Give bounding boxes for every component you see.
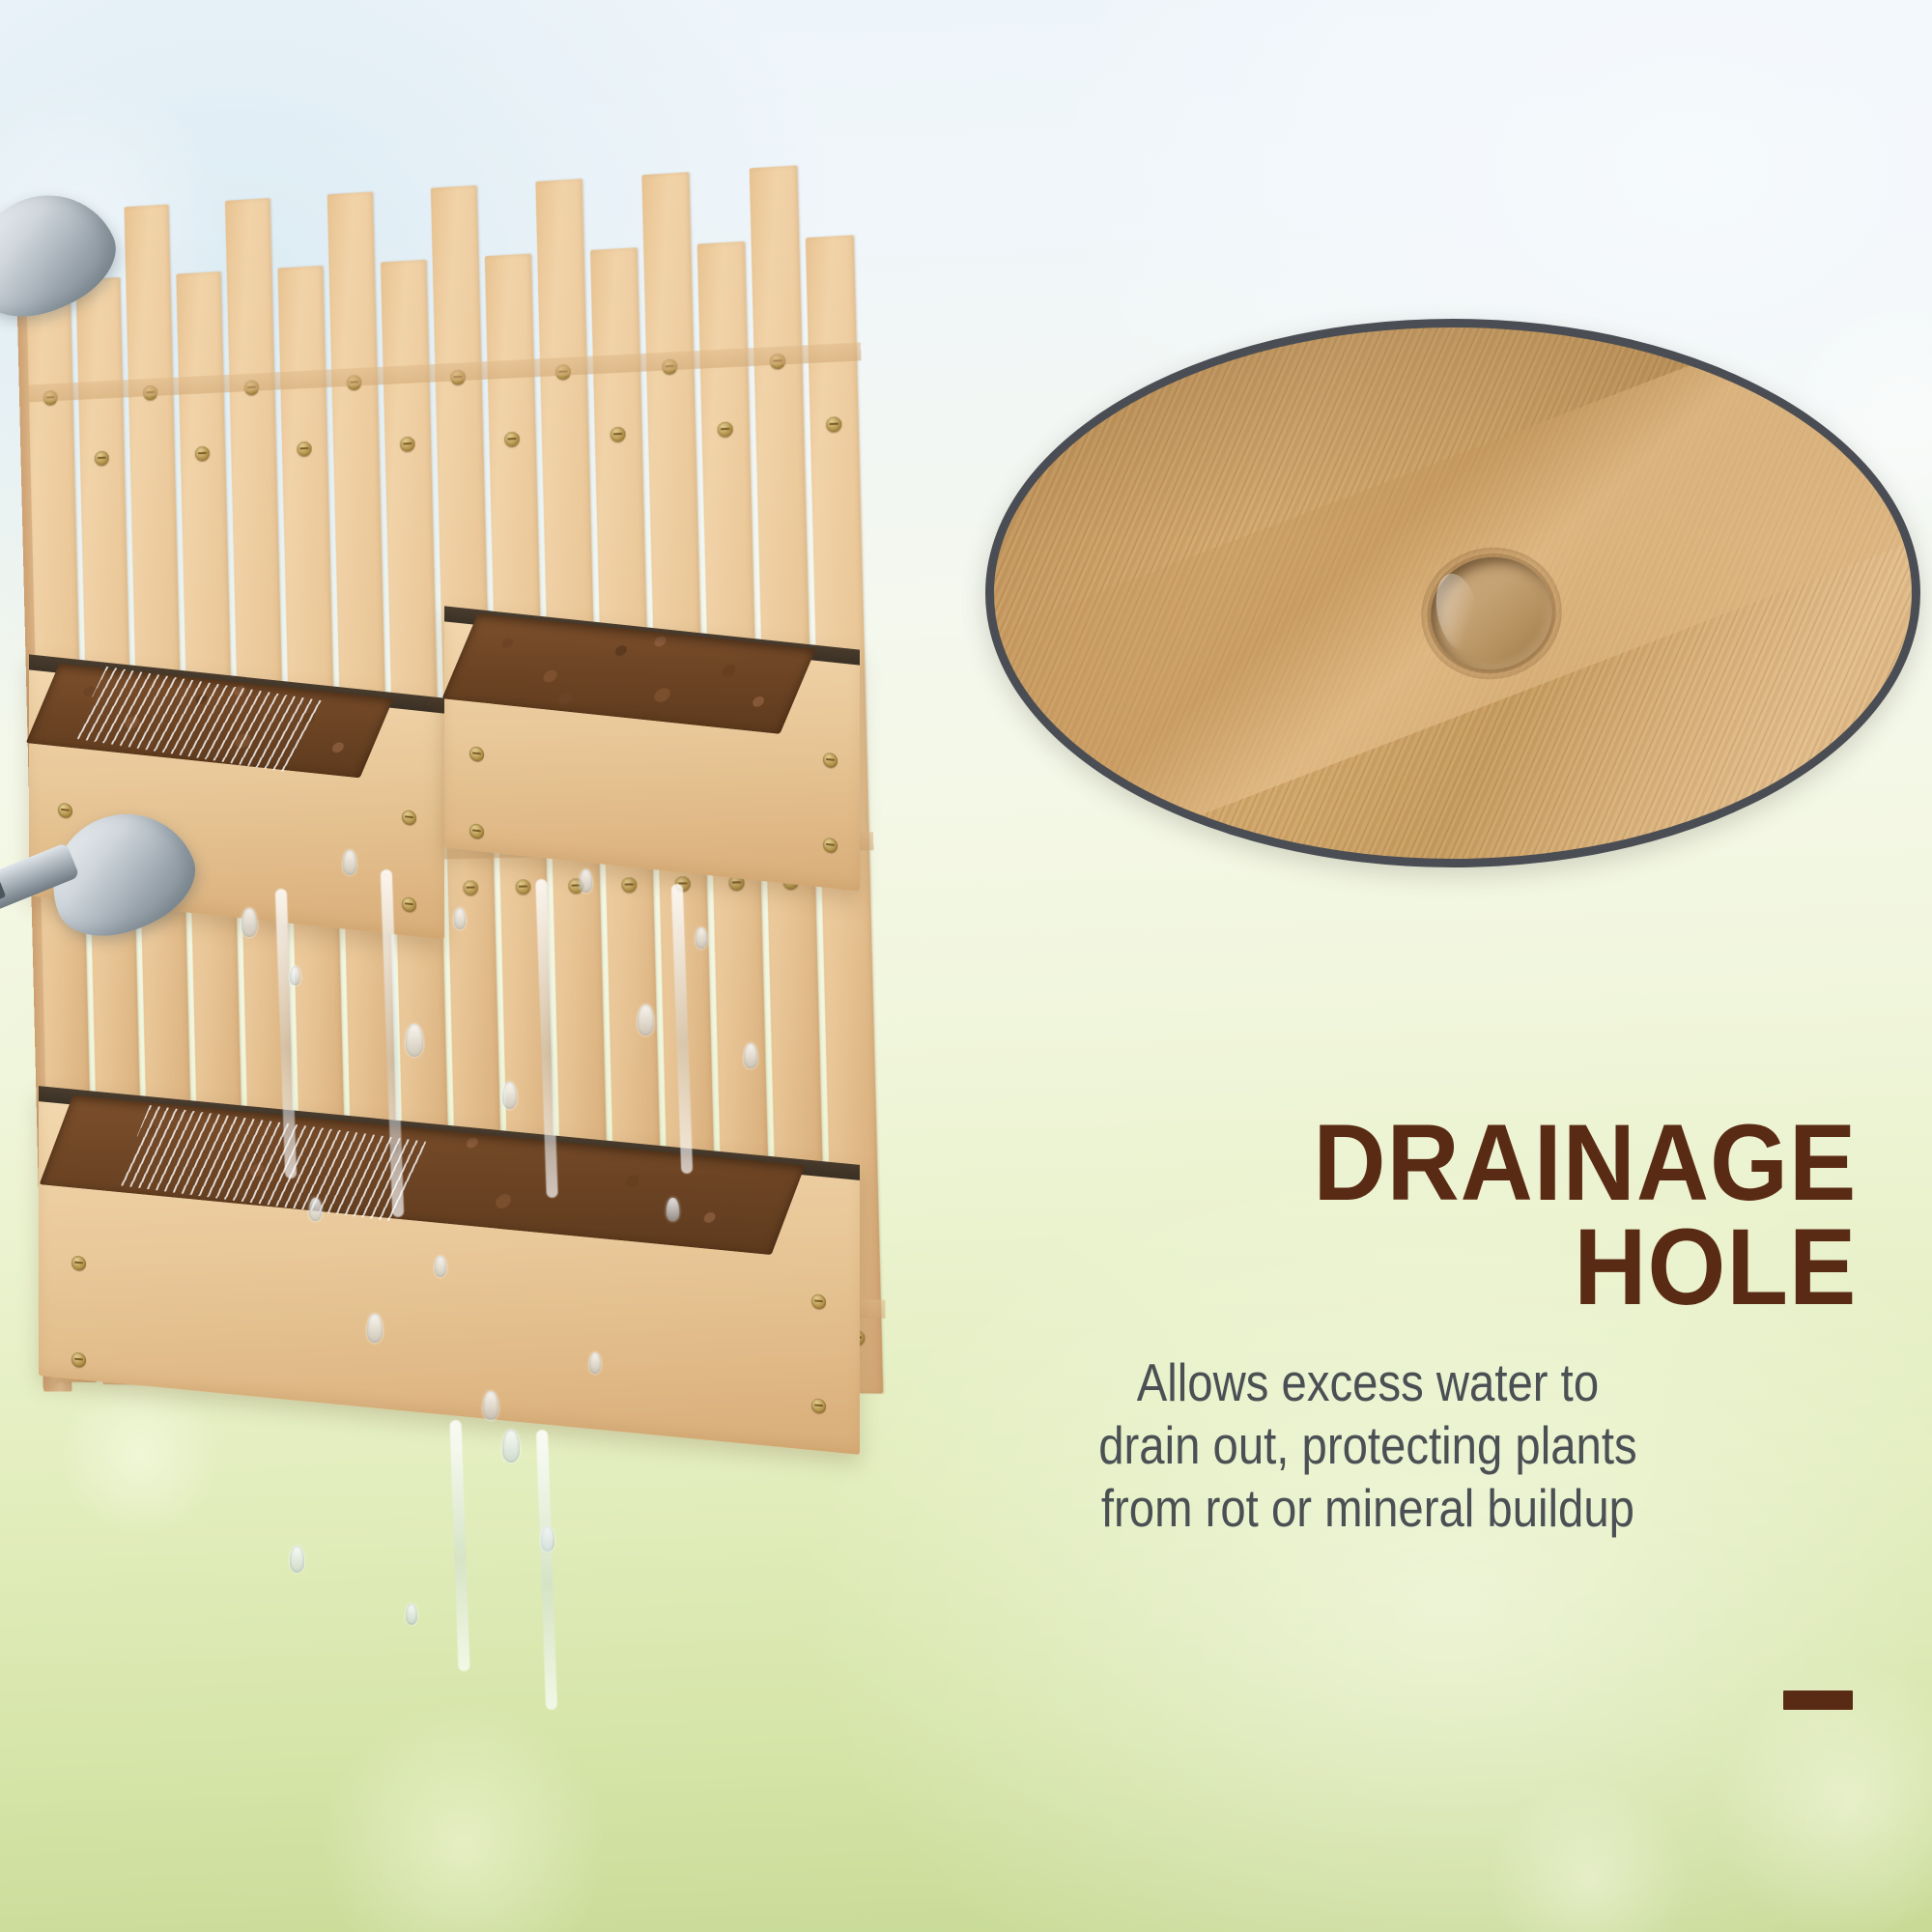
- drainage-hole-detail-inset: [985, 319, 1920, 867]
- water-drop: [502, 1430, 520, 1463]
- water-drop: [541, 1526, 554, 1551]
- description-text: Allows excess water to drain out, protec…: [943, 1351, 1840, 1540]
- water-drop: [406, 1604, 417, 1625]
- marketing-banner: DRAINAGE HOLE Allows excess water to dra…: [0, 0, 1932, 1932]
- planter-box-upper-right: [444, 606, 860, 891]
- box-screw: [71, 1255, 86, 1270]
- box-screw: [811, 1293, 826, 1309]
- product-photo: [0, 174, 927, 1642]
- accent-dash: [1783, 1690, 1853, 1710]
- page-title: DRAINAGE HOLE: [943, 1111, 1913, 1319]
- box-screw: [71, 1351, 86, 1367]
- text-block: DRAINAGE HOLE Allows excess water to dra…: [869, 1111, 1913, 1540]
- box-screw: [811, 1398, 826, 1413]
- water-drop: [290, 1546, 304, 1573]
- water-stream: [449, 1420, 469, 1671]
